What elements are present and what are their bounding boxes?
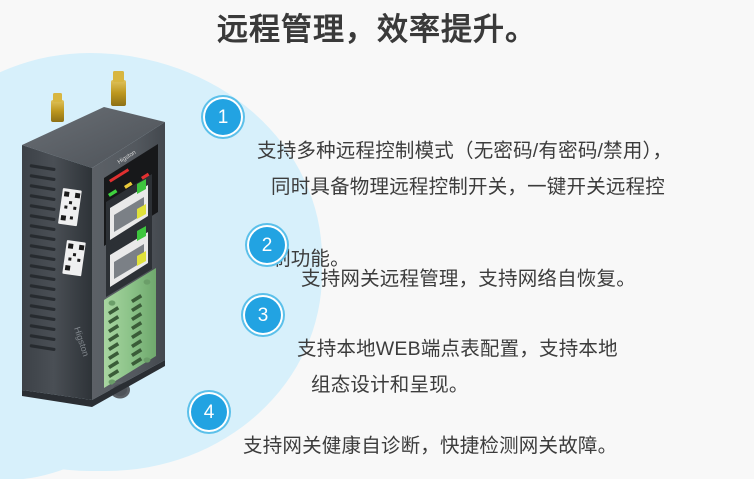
feature-badge-2: 2 <box>249 227 285 263</box>
feature-item-2: 2 支持网关远程管理，支持网络自恢复。 <box>249 225 636 297</box>
feature-4-line-1: 支持网关健康自诊断，快捷检测网关故障。 <box>243 435 617 457</box>
feature-1-line-2: 同时具备物理远程控制开关，一键开关远程控 <box>257 169 754 205</box>
promo-banner: 远程管理，效率提升。 <box>0 0 754 479</box>
feature-text-4: 支持网关健康自诊断，快捷检测网关故障。 <box>243 392 617 464</box>
feature-list: 1 支持多种远程控制模式（无密码/有密码/禁用）， 同时具备物理远程控制开关，一… <box>0 0 754 479</box>
feature-item-4: 4 支持网关健康自诊断，快捷检测网关故障。 <box>191 392 617 464</box>
feature-badge-3: 3 <box>245 297 281 333</box>
feature-3-line-1: 支持本地WEB端点表配置，支持本地 <box>297 338 618 360</box>
feature-1-line-1: 支持多种远程控制模式（无密码/有密码/禁用）， <box>257 140 672 162</box>
feature-badge-1: 1 <box>205 99 241 135</box>
feature-badge-4: 4 <box>191 394 227 430</box>
feature-2-line-1: 支持网关远程管理，支持网络自恢复。 <box>301 268 636 290</box>
feature-text-2: 支持网关远程管理，支持网络自恢复。 <box>301 225 636 297</box>
